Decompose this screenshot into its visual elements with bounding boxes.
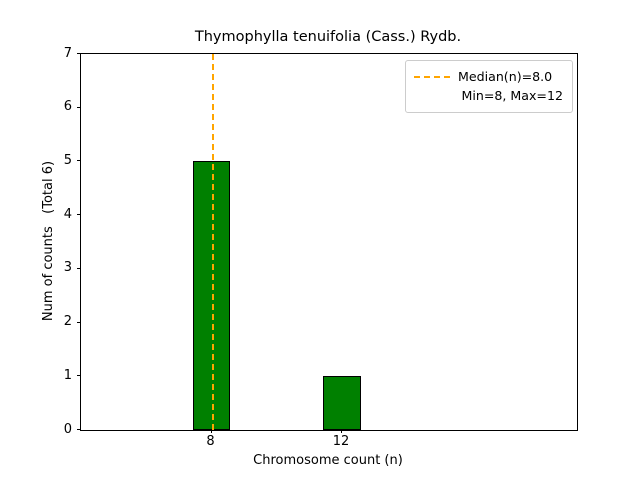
y-tick-mark <box>77 107 81 108</box>
legend: Median(n)=8.0 Min=8, Max=12 <box>405 60 573 113</box>
chart-figure: Thymophylla tenuifolia (Cass.) Rydb. 012… <box>0 0 640 480</box>
x-tick-mark <box>211 429 212 433</box>
y-tick-label: 5 <box>56 154 72 167</box>
y-tick-label: 4 <box>56 208 72 221</box>
x-tick-label: 12 <box>321 434 361 449</box>
median-line <box>212 54 214 430</box>
y-tick-mark <box>77 160 81 161</box>
y-tick-mark <box>77 214 81 215</box>
y-tick-mark <box>77 268 81 269</box>
x-tick-mark <box>341 429 342 433</box>
y-tick-label: 7 <box>56 47 72 60</box>
y-tick-mark <box>77 375 81 376</box>
y-tick-label: 3 <box>56 261 72 274</box>
y-tick-label: 6 <box>56 100 72 113</box>
y-tick-label: 2 <box>56 315 72 328</box>
y-tick-mark <box>77 429 81 430</box>
y-tick-label: 1 <box>56 369 72 382</box>
legend-label-minmax: Min=8, Max=12 <box>461 86 563 105</box>
y-tick-mark <box>77 322 81 323</box>
legend-item-median: Median(n)=8.0 <box>414 67 564 86</box>
page-title: Thymophylla tenuifolia (Cass.) Rydb. <box>80 28 576 46</box>
x-tick-label: 8 <box>191 434 231 449</box>
y-tick-mark <box>77 53 81 54</box>
legend-label-median: Median(n)=8.0 <box>458 67 552 86</box>
y-axis-label: Num of counts (Total 6) <box>40 53 58 429</box>
y-tick-label: 0 <box>56 423 72 436</box>
legend-item-minmax: Min=8, Max=12 <box>414 86 564 105</box>
dashed-line-icon <box>414 76 450 78</box>
x-axis-label: Chromosome count (n) <box>80 453 576 468</box>
